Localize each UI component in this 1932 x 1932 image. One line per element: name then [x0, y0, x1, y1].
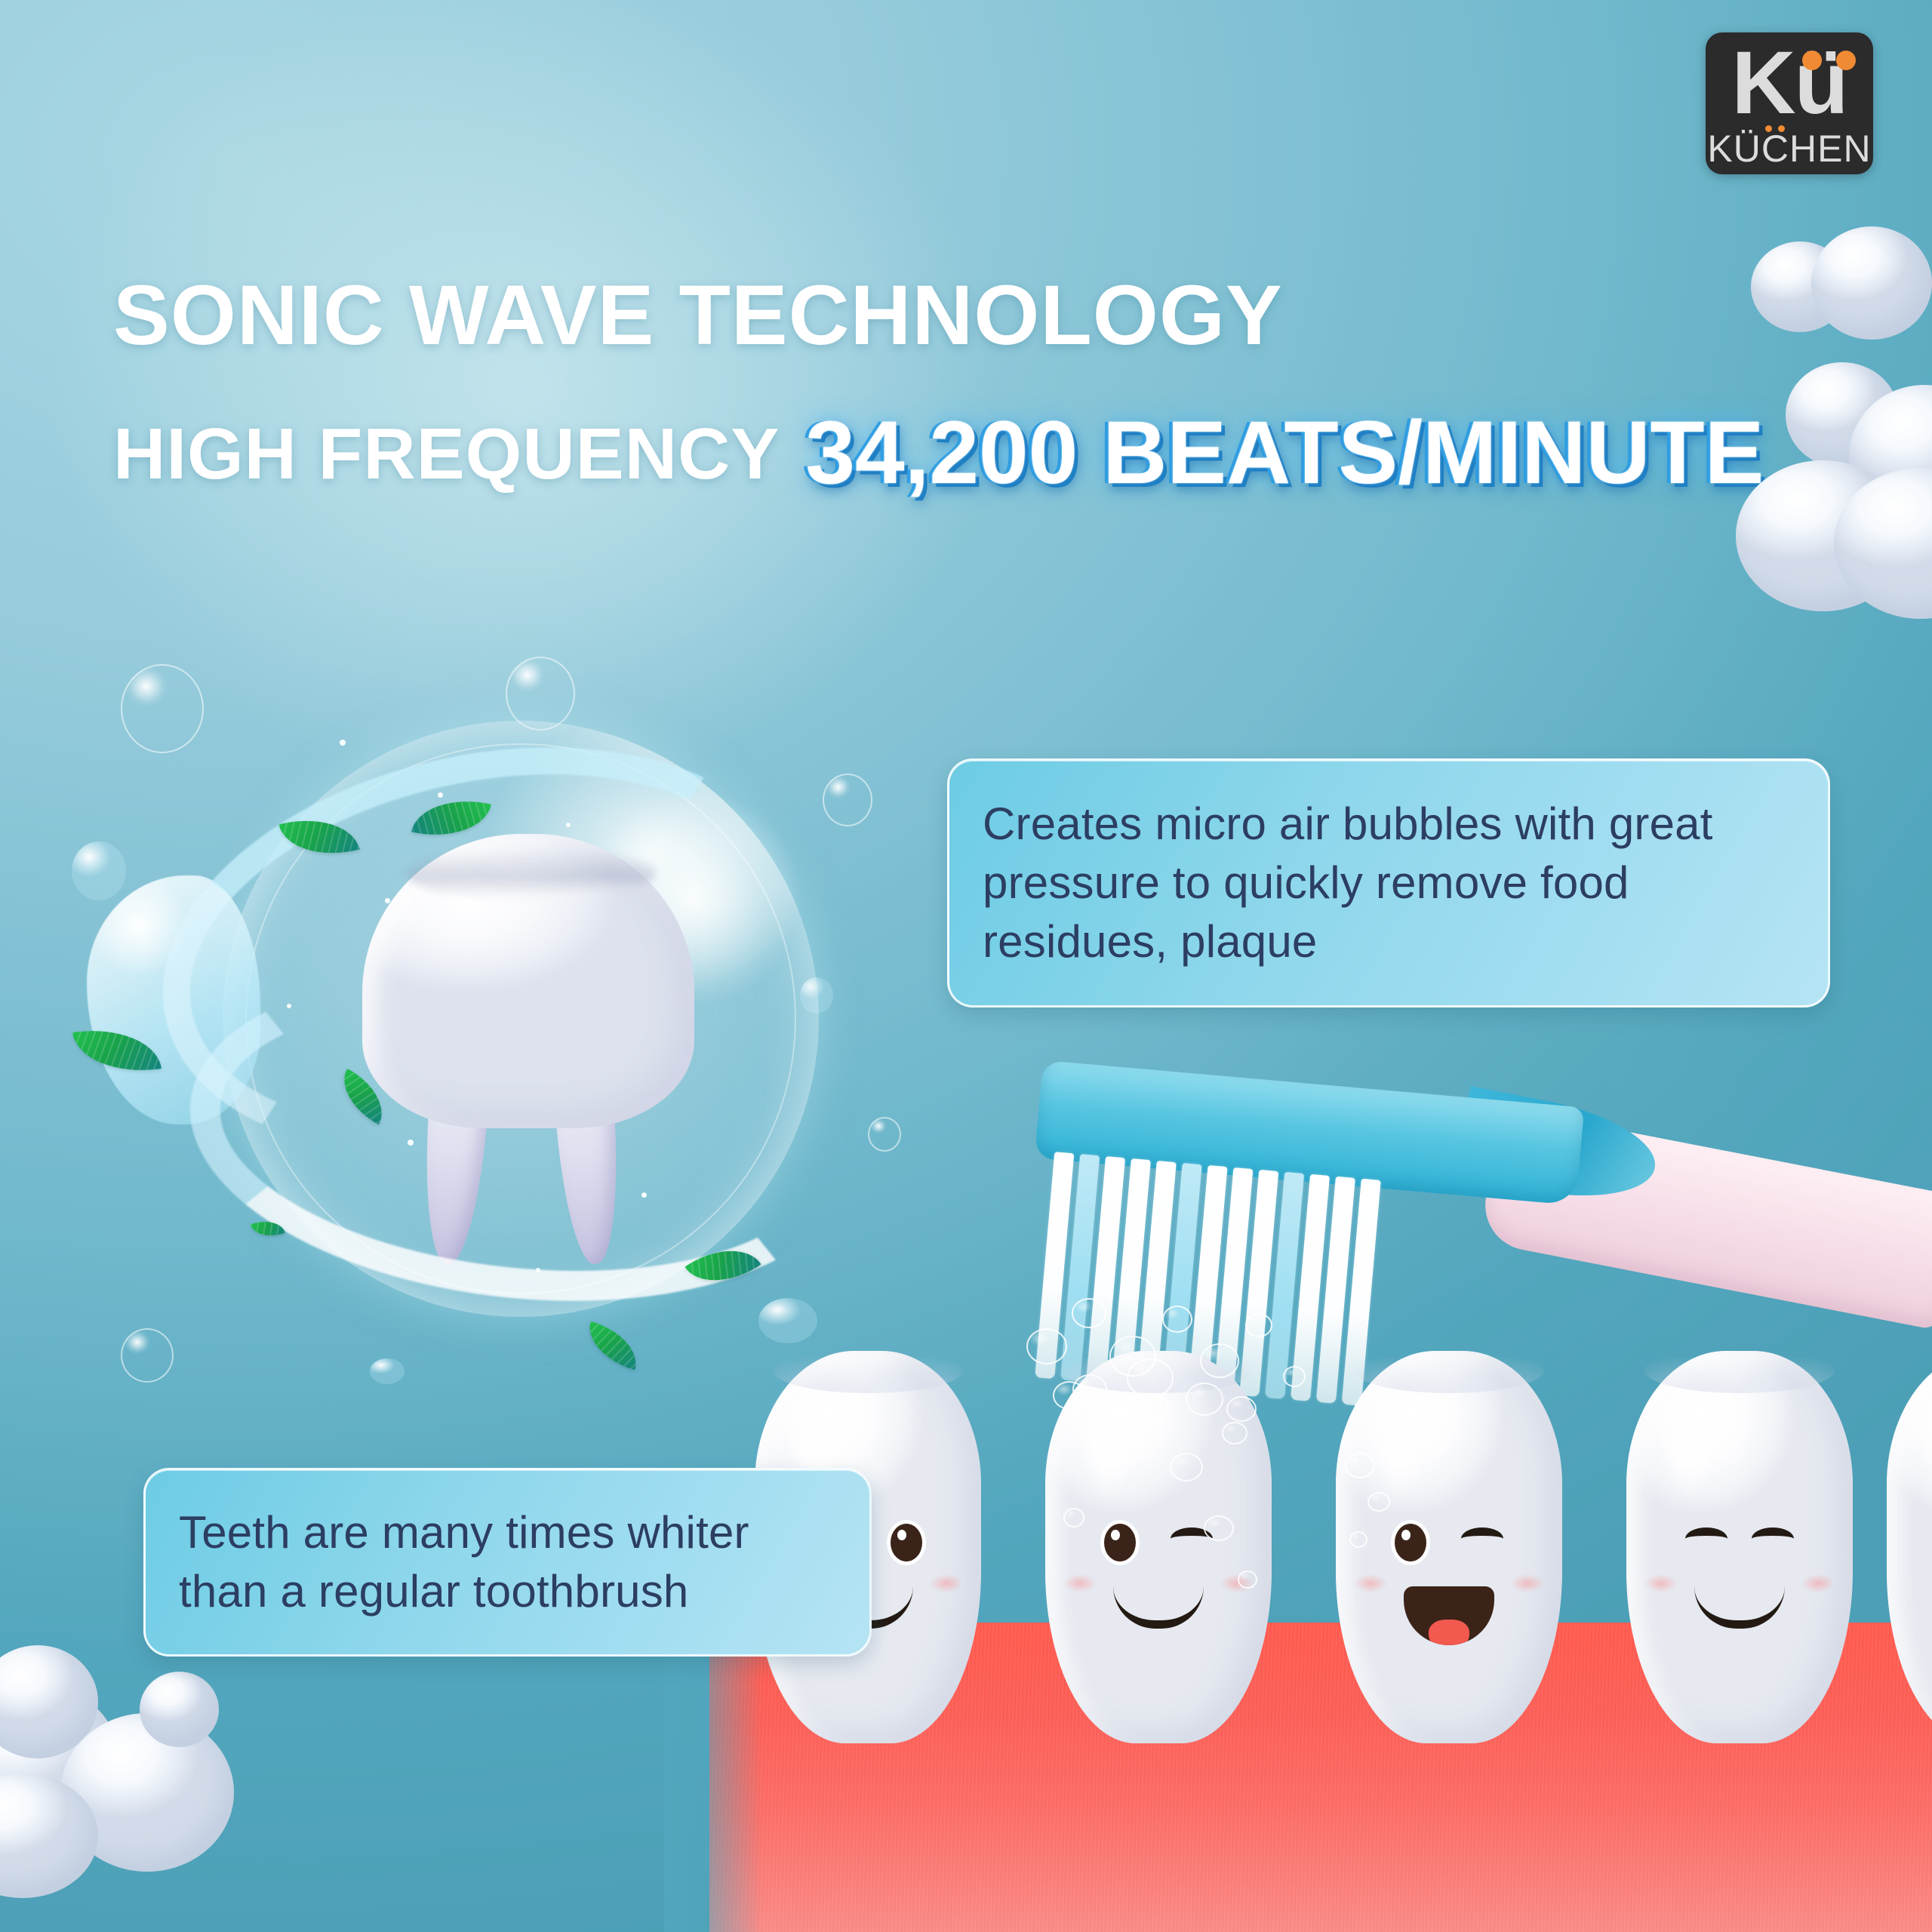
water-droplet-icon	[370, 1358, 405, 1384]
logo-subtext: KÜCHEN	[1706, 129, 1873, 168]
sub-umlaut-dot-left-icon	[1765, 125, 1772, 132]
headline-block: SONIC WAVE TECHNOLOGY HIGH FREQUENCY 34,…	[113, 273, 1849, 500]
tooth-character-4	[1626, 1351, 1853, 1743]
air-bubble-icon	[868, 1117, 901, 1152]
eye-icon	[1104, 1524, 1136, 1561]
mint-leaf-icon	[251, 1214, 285, 1243]
air-bubble-icon	[506, 657, 575, 731]
headline-line-2: HIGH FREQUENCY 34,200 BEATS/MINUTE	[113, 397, 1849, 500]
sub-umlaut-dot-right-icon	[1778, 125, 1785, 132]
water-droplet-icon	[72, 841, 126, 900]
feature-card-whiter-teeth[interactable]: Teeth are many times whiter than a regul…	[143, 1468, 872, 1657]
air-bubble-icon	[121, 1328, 174, 1383]
headline-prefix: HIGH FREQUENCY	[113, 418, 780, 491]
mint-leaf-icon	[581, 1321, 645, 1371]
tongue-icon	[1429, 1620, 1469, 1645]
eye-icon	[1395, 1524, 1426, 1561]
water-droplet-icon	[758, 1298, 817, 1343]
headline-highlight: 34,200 BEATS/MINUTE	[805, 401, 1764, 504]
open-mouth-icon	[1404, 1586, 1494, 1645]
headline-line-1: SONIC WAVE TECHNOLOGY	[113, 273, 1849, 358]
mouth-icon	[1694, 1586, 1785, 1629]
feature-card-text: Teeth are many times whiter than a regul…	[146, 1503, 869, 1621]
brand-logo[interactable]: Kü KÜCHEN	[1706, 32, 1873, 174]
closed-eye-icon	[1685, 1527, 1727, 1550]
foam-cluster	[1019, 1283, 1411, 1464]
cloud-bottom-left	[0, 1645, 264, 1894]
tooth-crown	[362, 834, 694, 1128]
umlaut-dot-right-icon	[1836, 51, 1856, 70]
tooth-bubble-illustration	[113, 649, 958, 1374]
eye-icon	[891, 1524, 922, 1561]
umlaut-dot-left-icon	[1802, 51, 1822, 70]
mouth-icon	[1113, 1586, 1204, 1629]
feature-card-text: Creates micro air bubbles with great pre…	[949, 795, 1828, 971]
gums-left-fade	[664, 1623, 762, 1932]
promo-banner: Kü KÜCHEN SONIC WAVE TECHNOLOGY HIGH FRE…	[0, 0, 1932, 1932]
water-splash	[87, 875, 260, 1124]
closed-eye-icon	[1752, 1527, 1794, 1550]
winking-eye-icon	[1461, 1527, 1503, 1550]
feature-card-micro-bubbles[interactable]: Creates micro air bubbles with great pre…	[947, 758, 1830, 1008]
air-bubble-icon	[121, 664, 204, 753]
